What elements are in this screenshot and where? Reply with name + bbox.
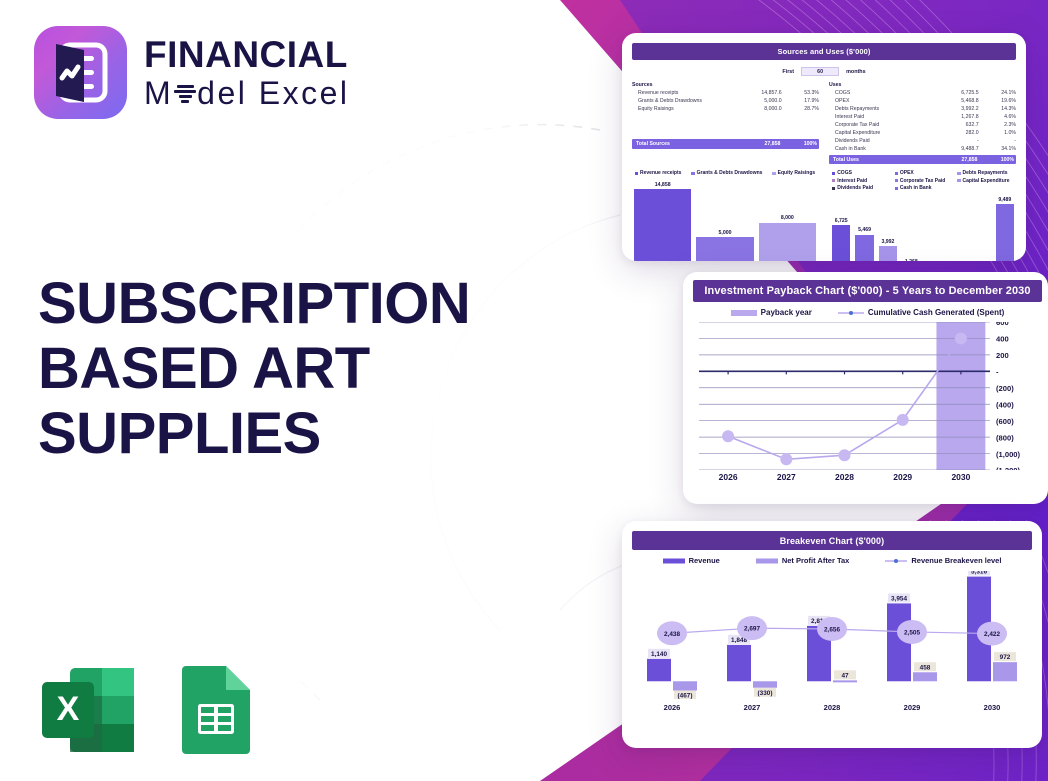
row-value: 632.7: [923, 121, 979, 129]
bar-column: 0: [972, 194, 990, 261]
row-percent: 1.0%: [979, 129, 1016, 137]
legend-line-marker: [838, 309, 864, 317]
uses-column: Uses COGS6,725.524.1%OPEX5,468.819.6%Deb…: [829, 82, 1016, 164]
revenue-bar: [647, 659, 671, 681]
brand-line-1: FINANCIAL: [144, 36, 350, 73]
months-suffix-label: months: [846, 69, 865, 75]
bar-column: 633: [926, 194, 944, 261]
y-tick-label: 400: [996, 335, 1009, 344]
legend-item: Debts Repayments: [957, 170, 1016, 176]
row-value: 8,000.0: [726, 105, 782, 113]
sources-uses-title: Sources and Uses ($'000): [632, 43, 1016, 60]
legend-label: Debts Repayments: [963, 170, 1008, 176]
table-row: Cash in Bank9,488.734.1%: [829, 145, 1016, 153]
row-value: 6,725.5: [923, 90, 979, 98]
y-tick-label: (200): [996, 384, 1014, 393]
page-title: SUBSCRIPTION BASED ART SUPPLIES: [38, 272, 498, 467]
table-row: Interest Paid1,267.84.6%: [829, 113, 1016, 121]
bar-column: 5,000: [696, 179, 753, 261]
legend-swatch: [772, 172, 775, 175]
npat-value-label: 47: [841, 672, 849, 679]
bar-value-label: 3,992: [881, 239, 894, 245]
bar-column: 14,858: [634, 179, 691, 261]
legend-label: Net Profit After Tax: [782, 556, 850, 565]
chart-document-icon: [34, 26, 127, 119]
legend-swatch: [895, 187, 898, 190]
legend-label: Capital Expenditure: [963, 178, 1010, 184]
legend-band-marker: [731, 309, 757, 317]
total-uses-value: 27,858: [923, 157, 978, 163]
legend-item: Revenue: [663, 556, 720, 565]
table-row: Debts Repayments3,992.214.3%: [829, 105, 1016, 113]
legend-label: Revenue receipts: [640, 170, 681, 176]
bar-value-label: 9,489: [998, 197, 1011, 203]
legend-swatch: [832, 172, 835, 175]
breakeven-legend: RevenueNet Profit After TaxRevenue Break…: [632, 556, 1032, 565]
row-label: Dividends Paid: [829, 137, 923, 145]
bar-value-label: 8,000: [781, 215, 794, 221]
payback-plot: 600400200-(200)(400)(600)(800)(1,000)(1,…: [693, 322, 1042, 470]
brand-line-2-pre: M: [144, 77, 173, 109]
table-row: Capital Expenditure282.01.0%: [829, 129, 1016, 137]
x-tick-label: 2027: [712, 703, 792, 712]
legend-item: Capital Expenditure: [957, 178, 1016, 184]
table-row: Grants & Debts Drawdowns5,000.017.9%: [632, 97, 819, 105]
series-line: [728, 338, 961, 459]
legend-label: OPEX: [900, 170, 914, 176]
uses-table: COGS6,725.524.1%OPEX5,468.819.6%Debts Re…: [829, 90, 1016, 154]
row-value: 9,488.7: [923, 145, 979, 153]
legend-bar-marker: [756, 557, 778, 565]
bar-value-label: 14,858: [655, 182, 671, 188]
legend-swatch: [635, 172, 638, 175]
npat-bar: [753, 681, 777, 687]
bar-column: 5,469: [855, 194, 873, 261]
months-control: First 60 months: [632, 67, 1016, 76]
data-point: [722, 430, 734, 442]
row-percent: 28.7%: [782, 105, 819, 113]
breakeven-value-label: 2,697: [744, 626, 760, 633]
total-sources-row: Total Sources 27,858 100%: [632, 139, 819, 148]
legend-item: Equity Raisings: [772, 170, 815, 176]
legend-label: Revenue Breakeven level: [911, 556, 1001, 565]
sources-uses-charts: Revenue receiptsGrants & Debts Drawdowns…: [632, 170, 1016, 261]
legend-item: Grants & Debts Drawdowns: [691, 170, 762, 176]
microsoft-excel-icon: X: [36, 662, 140, 763]
sources-table: Revenue receipts14,857.653.3%Grants & De…: [632, 90, 819, 114]
legend-item: Revenue Breakeven level: [885, 556, 1001, 565]
y-tick-label: (1,200): [996, 466, 1021, 470]
total-uses-label: Total Uses: [831, 157, 923, 163]
legend-label: Cash in Bank: [900, 185, 932, 191]
bar-value-label: 1,268: [905, 259, 918, 261]
legend-item: Revenue receipts: [635, 170, 682, 176]
total-sources-label: Total Sources: [634, 141, 726, 147]
row-value: 3,992.2: [923, 105, 979, 113]
legend-item: Interest Paid: [832, 178, 891, 184]
row-value: 5,000.0: [726, 97, 782, 105]
x-tick-label: 2027: [757, 472, 815, 482]
legend-swatch: [895, 179, 898, 182]
sources-heading: Sources: [632, 82, 819, 88]
row-value: 1,267.8: [923, 113, 979, 121]
breakeven-value-label: 2,505: [904, 629, 920, 636]
bar: [696, 237, 753, 261]
row-percent: 4.6%: [979, 113, 1016, 121]
table-row: OPEX5,468.819.6%: [829, 97, 1016, 105]
legend-swatch: [832, 187, 835, 190]
legend-item: Net Profit After Tax: [756, 556, 850, 565]
legend-item: Payback year: [731, 308, 812, 317]
uses-bars: 6,7255,4693,9921,26863328209,489: [830, 194, 1016, 261]
legend-item: Dividends Paid: [832, 185, 891, 191]
legend-label: Revenue: [689, 556, 720, 565]
brand-logo: FINANCIAL Mdel Excel: [34, 26, 350, 119]
table-row: Revenue receipts14,857.653.3%: [632, 90, 819, 98]
x-tick-label: 2029: [872, 703, 952, 712]
bar-column: 6,725: [832, 194, 850, 261]
y-tick-label: -: [996, 368, 999, 377]
data-point: [955, 332, 967, 344]
bar-column: 1,268: [902, 194, 920, 261]
npat-bar: [913, 672, 937, 681]
sources-bar-chart: Revenue receiptsGrants & Debts Drawdowns…: [632, 170, 818, 261]
brand-line-2-post: del Excel: [197, 77, 349, 109]
legend-label: Corporate Tax Paid: [900, 178, 945, 184]
bar-value-label: 6,725: [835, 218, 848, 224]
sources-bars: 14,8585,0008,000: [632, 179, 818, 261]
breakeven-plot: 1,140(467)1,848(330)2,814473,9544585,316…: [632, 571, 1032, 699]
x-tick-label: 2029: [874, 472, 932, 482]
total-uses-pct: 100%: [977, 157, 1014, 163]
bar: [759, 223, 816, 261]
row-value: -: [923, 137, 979, 145]
google-sheets-icon: [178, 662, 254, 763]
legend-label: Grants & Debts Drawdowns: [697, 170, 763, 176]
npat-value-label: 972: [1000, 654, 1011, 661]
npat-value-label: 458: [920, 664, 931, 671]
npat-bar: [673, 681, 697, 690]
supported-formats: X: [36, 662, 254, 763]
sources-uses-tables: Sources Revenue receipts14,857.653.3%Gra…: [632, 82, 1016, 164]
npat-bar: [993, 662, 1017, 681]
months-input[interactable]: 60: [801, 67, 839, 76]
y-tick-label: (600): [996, 417, 1014, 426]
legend-label: Payback year: [761, 308, 812, 317]
breakeven-title: Breakeven Chart ($'000): [632, 531, 1032, 550]
row-label: Debts Repayments: [829, 105, 923, 113]
sources-chart-legend: Revenue receiptsGrants & Debts Drawdowns…: [632, 170, 818, 176]
card-sources-and-uses: Sources and Uses ($'000) First 60 months…: [622, 33, 1026, 261]
bar-column: 282: [949, 194, 967, 261]
row-label: Grants & Debts Drawdowns: [632, 97, 726, 105]
row-label: Interest Paid: [829, 113, 923, 121]
bar-value-label: 5,000: [719, 230, 732, 236]
legend-swatch: [957, 179, 960, 182]
legend-item: COGS: [832, 170, 891, 176]
row-percent: 34.1%: [979, 145, 1016, 153]
bar-column: 8,000: [759, 179, 816, 261]
legend-item: OPEX: [895, 170, 954, 176]
total-uses-row: Total Uses 27,858 100%: [829, 155, 1016, 164]
row-value: 282.0: [923, 129, 979, 137]
bar: [879, 246, 897, 261]
row-percent: 14.3%: [979, 105, 1016, 113]
legend-item: Cumulative Cash Generated (Spent): [838, 308, 1004, 317]
breakeven-x-axis: 20262027202820292030: [632, 703, 1032, 712]
row-value: 14,857.6: [726, 90, 782, 98]
uses-heading: Uses: [829, 82, 1016, 88]
row-label: Equity Raisings: [632, 105, 726, 113]
bar: [855, 235, 873, 261]
legend-line-marker: [885, 557, 907, 565]
revenue-bar: [727, 645, 751, 681]
revenue-value-label: 1,140: [651, 651, 667, 658]
data-point: [780, 453, 792, 465]
x-tick-label: 2026: [699, 472, 757, 482]
row-percent: 2.3%: [979, 121, 1016, 129]
y-tick-label: 600: [996, 322, 1009, 327]
row-percent: 17.9%: [782, 97, 819, 105]
legend-label: Cumulative Cash Generated (Spent): [868, 308, 1004, 317]
total-sources-pct: 100%: [780, 141, 817, 147]
breakeven-value-label: 2,438: [664, 631, 680, 638]
data-point: [839, 449, 851, 461]
bar: [996, 204, 1014, 261]
row-percent: 53.3%: [782, 90, 819, 98]
bar: [634, 189, 691, 261]
legend-swatch: [691, 172, 694, 175]
uses-chart-legend: COGSOPEXDebts RepaymentsInterest PaidCor…: [830, 170, 1016, 191]
y-tick-label: (1,000): [996, 450, 1021, 459]
breakeven-value-label: 2,422: [984, 631, 1000, 638]
revenue-value-label: 3,954: [891, 595, 907, 602]
y-tick-label: (800): [996, 433, 1014, 442]
row-label: Revenue receipts: [632, 90, 726, 98]
legend-swatch: [895, 172, 898, 175]
months-prefix-label: First: [782, 69, 794, 75]
legend-bar-marker: [663, 557, 685, 565]
sources-column: Sources Revenue receipts14,857.653.3%Gra…: [632, 82, 819, 164]
payback-x-axis: 20262027202820292030: [693, 472, 1042, 482]
row-percent: 19.6%: [979, 97, 1016, 105]
x-tick-label: 2026: [632, 703, 712, 712]
legend-label: Interest Paid: [837, 178, 867, 184]
x-tick-label: 2028: [815, 472, 873, 482]
npat-bar: [833, 680, 857, 682]
row-label: OPEX: [829, 97, 923, 105]
row-percent: 24.1%: [979, 90, 1016, 98]
y-tick-label: (400): [996, 400, 1014, 409]
table-row: Dividends Paid--: [829, 137, 1016, 145]
breakeven-value-label: 2,656: [824, 626, 840, 633]
payback-title: Investment Payback Chart ($'000) - 5 Yea…: [693, 280, 1042, 302]
x-tick-label: 2028: [792, 703, 872, 712]
bar-value-label: 5,469: [858, 227, 871, 233]
row-percent: -: [979, 137, 1016, 145]
npat-value-label: (467): [678, 692, 693, 699]
legend-swatch: [957, 172, 960, 175]
legend-label: Equity Raisings: [778, 170, 816, 176]
row-label: Corporate Tax Paid: [829, 121, 923, 129]
bar: [832, 225, 850, 261]
legend-label: COGS: [837, 170, 852, 176]
legend-item: Cash in Bank: [895, 185, 954, 191]
row-value: 5,468.8: [923, 97, 979, 105]
row-label: COGS: [829, 90, 923, 98]
y-tick-label: 200: [996, 351, 1009, 360]
bar-column: 3,992: [879, 194, 897, 261]
legend-item: Corporate Tax Paid: [895, 178, 954, 184]
total-sources-value: 27,858: [726, 141, 781, 147]
revenue-value-label: 5,316: [971, 571, 987, 576]
legend-swatch: [832, 179, 835, 182]
uses-bar-chart: COGSOPEXDebts RepaymentsInterest PaidCor…: [830, 170, 1016, 261]
table-row: Equity Raisings8,000.028.7%: [632, 105, 819, 113]
card-breakeven: Breakeven Chart ($'000) RevenueNet Profi…: [622, 521, 1042, 748]
table-row: COGS6,725.524.1%: [829, 90, 1016, 98]
legend-label: Dividends Paid: [837, 185, 873, 191]
bar-column: 9,489: [996, 194, 1014, 261]
npat-value-label: (330): [758, 690, 773, 697]
table-row: Corporate Tax Paid632.72.3%: [829, 121, 1016, 129]
x-tick-label: 2030: [952, 703, 1032, 712]
brand-line-2: Mdel Excel: [144, 77, 350, 109]
svg-text:X: X: [57, 690, 80, 728]
row-label: Capital Expenditure: [829, 129, 923, 137]
x-tick-label: 2030: [932, 472, 990, 482]
card-investment-payback: Investment Payback Chart ($'000) - 5 Yea…: [683, 272, 1048, 504]
row-label: Cash in Bank: [829, 145, 923, 153]
data-point: [897, 414, 909, 426]
hamburger-o-icon: [174, 85, 196, 103]
payback-legend: Payback yearCumulative Cash Generated (S…: [693, 308, 1042, 317]
